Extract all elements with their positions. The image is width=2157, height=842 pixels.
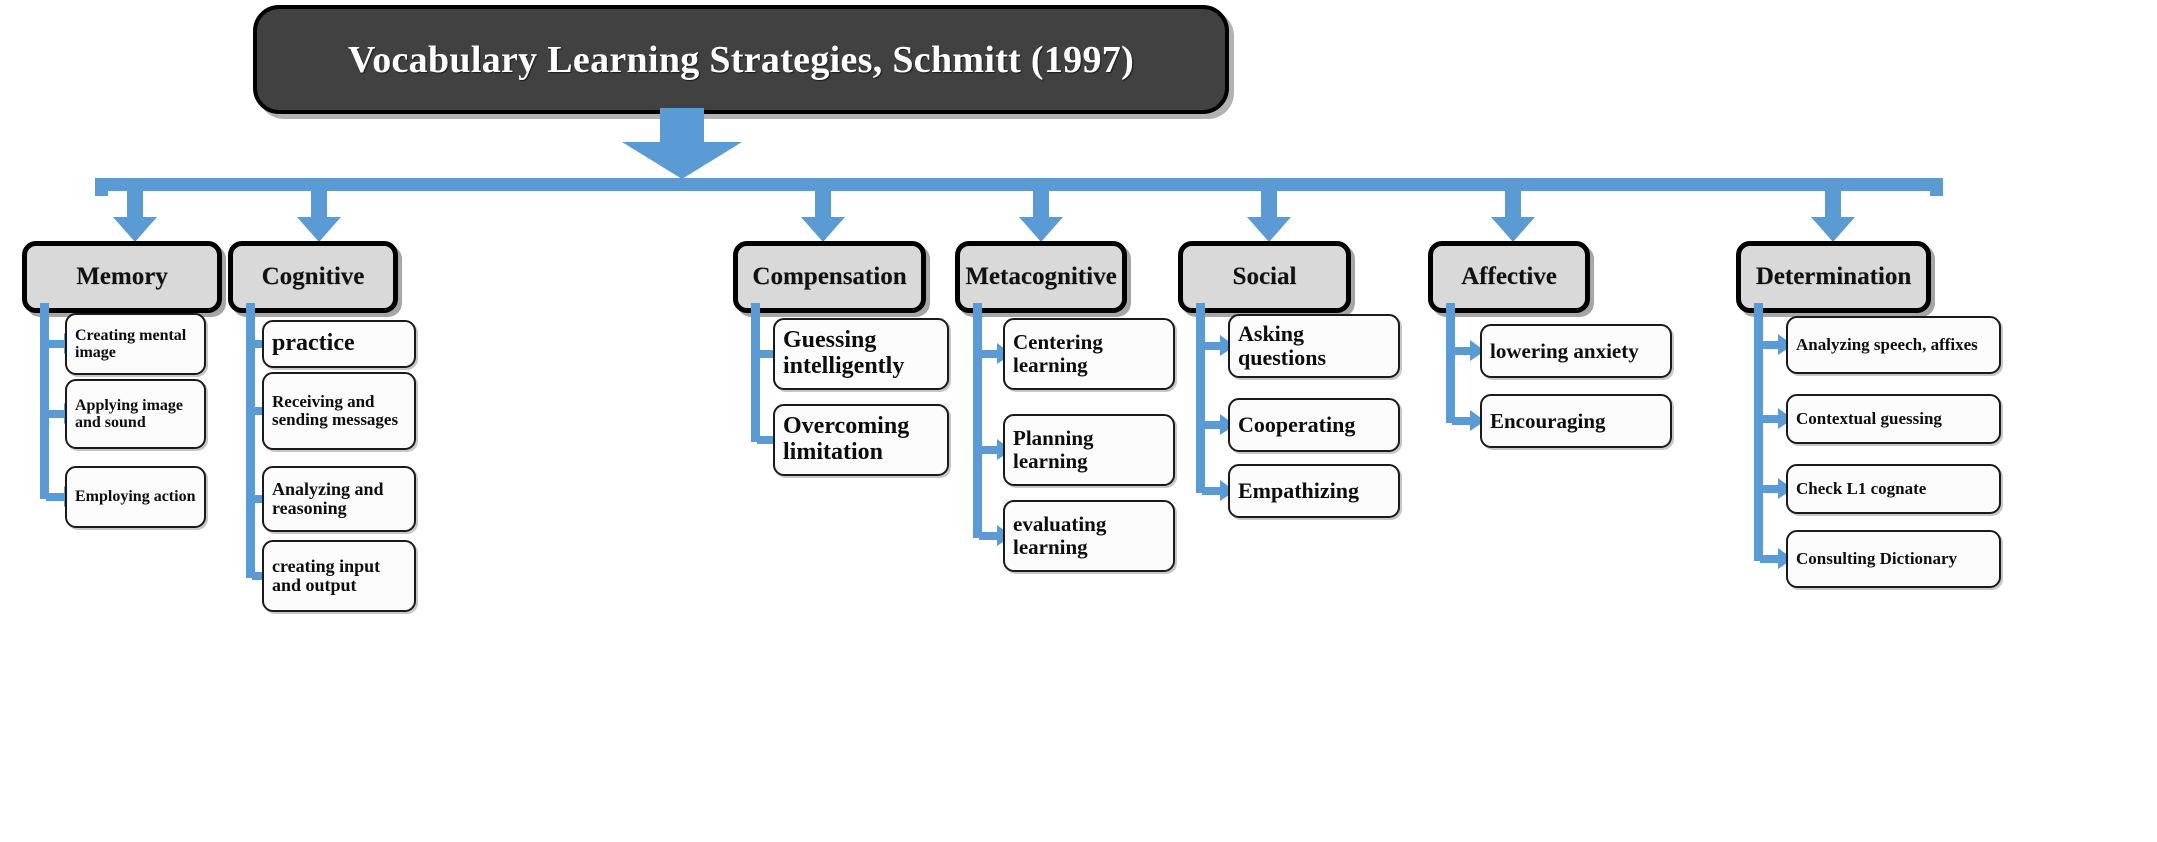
diagram-title-banner: Vocabulary Learning Strategies, Schmitt … [253, 5, 1229, 114]
strategy-label: Asking questions [1238, 322, 1390, 370]
category-label: Memory [76, 263, 168, 291]
strategy-label: Overcoming limitation [783, 414, 939, 466]
branch-bus-bar [95, 178, 1943, 191]
strategy-box[interactable]: Encouraging [1480, 394, 1672, 448]
strategy-box[interactable]: Consulting Dictionary [1786, 530, 2001, 588]
strategy-box[interactable]: Planning learning [1003, 414, 1175, 486]
strategy-label: lowering anxiety [1490, 340, 1639, 363]
strategy-box[interactable]: practice [262, 320, 416, 368]
strategy-box[interactable]: Analyzing speech, affixes [1786, 316, 2001, 374]
strategy-label: Cooperating [1238, 413, 1355, 437]
branch-down-arrow-icon-5 [1490, 191, 1536, 243]
category-label: Social [1233, 263, 1297, 291]
strategy-box[interactable]: creating input and output [262, 540, 416, 612]
strategy-box[interactable]: Analyzing and reasoning [262, 466, 416, 532]
branch-down-arrow-icon-0 [112, 191, 158, 243]
strategy-box[interactable]: Receiving and sending messages [262, 372, 416, 450]
strategy-box[interactable]: Applying image and sound [65, 379, 206, 449]
strategy-label: Check L1 cognate [1796, 480, 1926, 498]
bus-left-cap [95, 178, 108, 196]
category-box-determination[interactable]: Determination [1736, 241, 1931, 313]
strategy-label: Centering learning [1013, 331, 1165, 376]
strategy-label: Empathizing [1238, 479, 1359, 503]
branch-down-arrow-icon-6 [1810, 191, 1856, 243]
category-spine-4 [1196, 303, 1205, 493]
strategy-box[interactable]: Overcoming limitation [773, 404, 949, 476]
category-box-memory[interactable]: Memory [22, 241, 222, 313]
strategy-label: Employing action [75, 488, 195, 505]
strategy-label: Consulting Dictionary [1796, 550, 1957, 568]
branch-down-arrow-icon-2 [800, 191, 846, 243]
category-label: Determination [1756, 263, 1912, 291]
branch-down-arrow-icon-4 [1246, 191, 1292, 243]
strategy-box[interactable]: Creating mental image [65, 313, 206, 375]
strategy-label: Planning learning [1013, 427, 1165, 472]
strategy-label: Analyzing speech, affixes [1796, 336, 1978, 354]
strategy-box[interactable]: lowering anxiety [1480, 324, 1672, 378]
diagram-title: Vocabulary Learning Strategies, Schmitt … [348, 38, 1134, 82]
strategy-box[interactable]: Cooperating [1228, 398, 1400, 452]
branch-down-arrow-icon-1 [296, 191, 342, 243]
strategy-label: practice [272, 331, 355, 357]
branch-down-arrow-icon-3 [1018, 191, 1064, 243]
main-down-arrow-icon [620, 108, 744, 180]
category-label: Cognitive [262, 263, 365, 291]
bus-right-cap [1930, 178, 1943, 196]
category-label: Affective [1461, 263, 1557, 291]
diagram-canvas: Vocabulary Learning Strategies, Schmitt … [0, 0, 2157, 842]
strategy-box[interactable]: Empathizing [1228, 464, 1400, 518]
strategy-label: Encouraging [1490, 410, 1606, 433]
strategy-label: Applying image and sound [75, 397, 196, 432]
category-box-compensation[interactable]: Compensation [733, 241, 926, 313]
category-spine-3 [973, 303, 982, 538]
strategy-box[interactable]: Employing action [65, 466, 206, 528]
strategy-box[interactable]: Check L1 cognate [1786, 464, 2001, 514]
category-label: Compensation [752, 263, 906, 291]
strategy-box[interactable]: evaluating learning [1003, 500, 1175, 572]
strategy-box[interactable]: Centering learning [1003, 318, 1175, 390]
strategy-box[interactable]: Asking questions [1228, 314, 1400, 378]
category-label: Metacognitive [965, 263, 1116, 291]
category-spine-2 [751, 303, 760, 442]
strategy-box[interactable]: Contextual guessing [1786, 394, 2001, 444]
strategy-box[interactable]: Guessing intelligently [773, 318, 949, 390]
strategy-label: Guessing intelligently [783, 328, 939, 380]
category-spine-5 [1446, 303, 1455, 423]
strategy-label: Analyzing and reasoning [272, 480, 406, 519]
strategy-label: Contextual guessing [1796, 410, 1942, 428]
strategy-label: Creating mental image [75, 327, 196, 362]
strategy-label: evaluating learning [1013, 513, 1165, 558]
strategy-label: creating input and output [272, 557, 406, 596]
strategy-label: Receiving and sending messages [272, 393, 406, 430]
